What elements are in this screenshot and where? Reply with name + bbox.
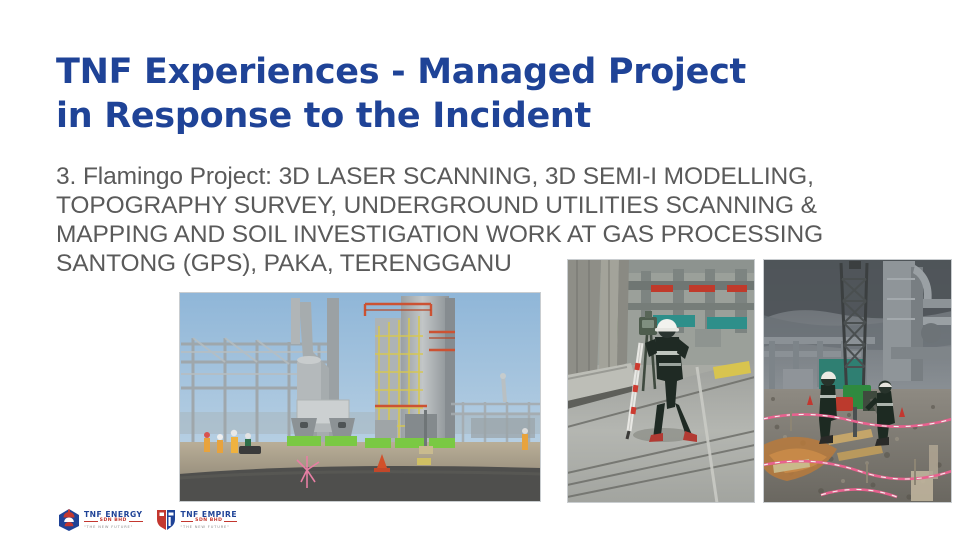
tnf-empire-entity: SDN BHD <box>195 519 222 524</box>
topography-survey-photo <box>567 259 755 503</box>
page-title: TNF Experiences - Managed Project in Res… <box>56 50 906 138</box>
topography-survey-photo-graphic <box>567 259 755 503</box>
tnf-energy-logo-mark <box>58 508 80 532</box>
logo-rule-left <box>181 521 194 522</box>
logo-rule-right <box>129 521 143 522</box>
tnf-empire-logo: TNF EMPIRE SDN BHD "THE NEW FUTURE" <box>155 507 238 533</box>
tnf-empire-logo-mark <box>155 508 177 532</box>
tnf-empire-entity-row: SDN BHD <box>181 519 238 524</box>
tnf-energy-logo-text: TNF ENERGY SDN BHD "THE NEW FUTURE" <box>84 511 143 529</box>
tnf-energy-entity-row: SDN BHD <box>84 519 143 524</box>
soil-investigation-photo <box>763 259 952 503</box>
tnf-energy-entity: SDN BHD <box>100 519 127 524</box>
tnf-empire-tagline: "THE NEW FUTURE" <box>181 526 238 530</box>
logo-bar: TNF ENERGY SDN BHD "THE NEW FUTURE" TNF … <box>58 505 237 535</box>
tnf-energy-logo: TNF ENERGY SDN BHD "THE NEW FUTURE" <box>58 507 143 533</box>
tnf-energy-tagline: "THE NEW FUTURE" <box>84 526 143 530</box>
tnf-empire-logo-text: TNF EMPIRE SDN BHD "THE NEW FUTURE" <box>181 511 238 529</box>
soil-investigation-photo-graphic <box>763 259 952 503</box>
gas-processing-plant-photo-graphic <box>179 292 541 502</box>
slide-canvas: TNF Experiences - Managed Project in Res… <box>0 0 960 540</box>
logo-rule-right <box>224 521 237 522</box>
gas-processing-plant-photo <box>179 292 541 502</box>
logo-rule-left <box>84 521 98 522</box>
